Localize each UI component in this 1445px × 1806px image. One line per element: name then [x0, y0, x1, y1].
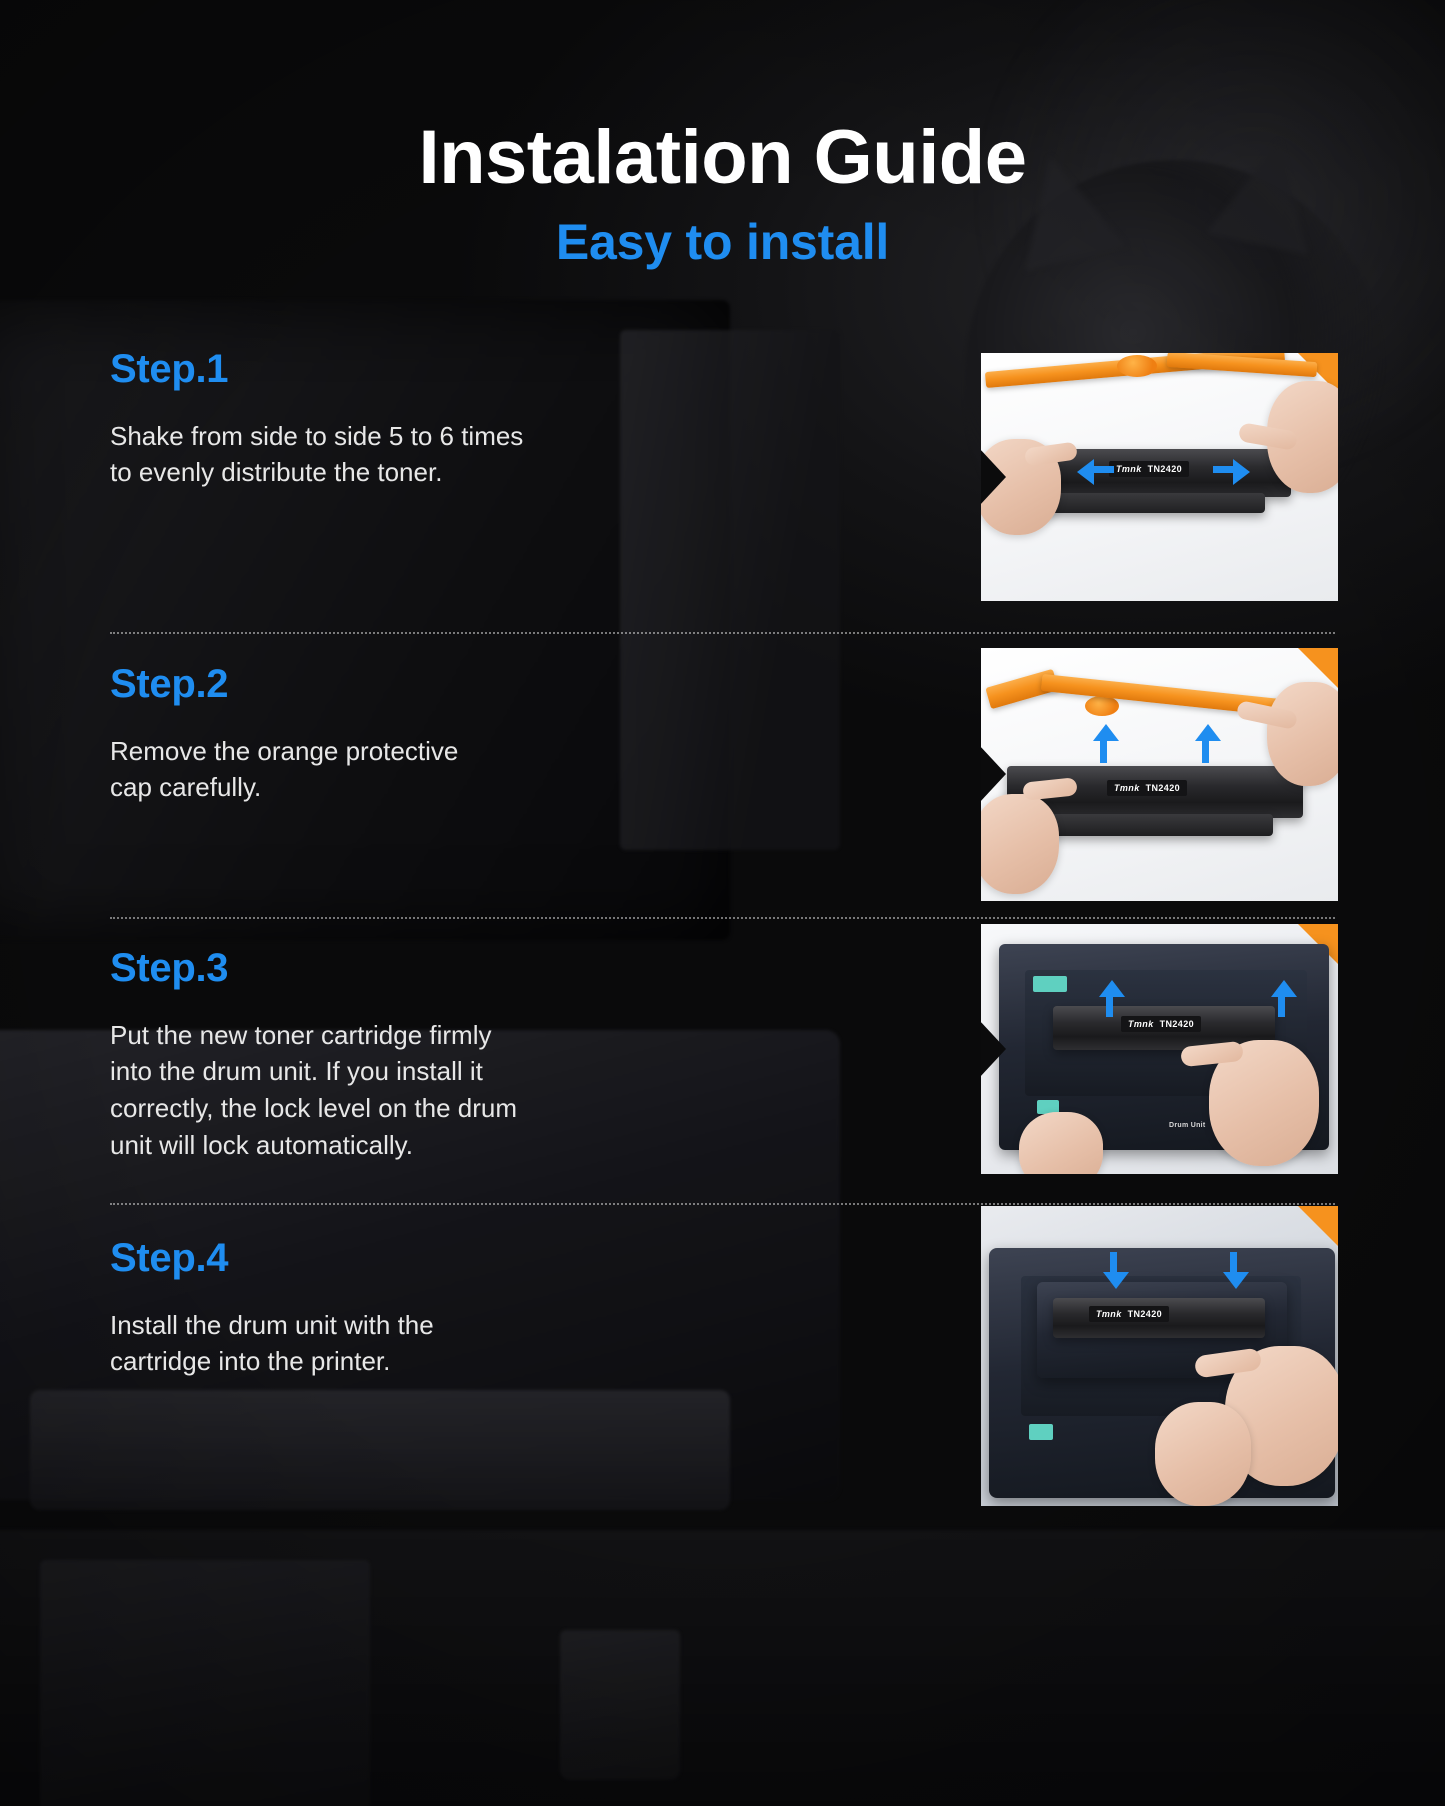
shake-arrow-right-stem — [1213, 466, 1233, 473]
steps-list: Step.1 Shake from side to side 5 to 6 ti… — [0, 333, 1445, 1526]
cartridge-brand-text: Tmnk — [1096, 1309, 1122, 1319]
step-2-text: Step.2 Remove the orange protective cap … — [110, 616, 730, 807]
insert-arrow-left-icon — [1099, 980, 1125, 997]
step-3-image: Tmnk TN2420 Drum Unit — [981, 924, 1338, 1174]
step-4-label: Step.4 — [110, 1236, 730, 1281]
hand-left — [1019, 1112, 1103, 1174]
shake-arrow-left-icon — [1077, 459, 1094, 485]
step-2-description: Remove the orange protective cap careful… — [110, 733, 710, 807]
step-1-description: Shake from side to side 5 to 6 times to … — [110, 418, 710, 492]
insert-arrow-right-icon — [1271, 980, 1297, 997]
insert-arrow-left-stem — [1110, 1252, 1117, 1272]
step-3-text: Step.3 Put the new toner cartridge firml… — [110, 906, 730, 1165]
step-1-image: Tmnk TN2420 — [981, 353, 1338, 601]
step-1-label: Step.1 — [110, 347, 730, 392]
step-item-3: Step.3 Put the new toner cartridge firml… — [0, 906, 1445, 1196]
orange-cap-knob-icon — [1117, 355, 1157, 377]
drum-unit-name-label: Drum Unit — [1169, 1122, 1206, 1129]
cartridge-label-badge: Tmnk TN2420 — [1107, 780, 1187, 796]
corner-accent-icon — [1298, 1206, 1338, 1246]
hand-left-bottom — [981, 794, 1059, 894]
step-4-text: Step.4 Install the drum unit with the ca… — [110, 1196, 730, 1381]
insert-arrow-right-icon — [1223, 1272, 1249, 1289]
cartridge-brand-text: Tmnk — [1116, 464, 1142, 474]
cartridge-model-text: TN2420 — [1160, 1019, 1194, 1029]
photo-pointer-notch — [981, 449, 1006, 505]
step-2-image: Tmnk TN2420 — [981, 648, 1338, 901]
toner-cartridge-lower — [1041, 493, 1265, 513]
step-3-label: Step.3 — [110, 946, 730, 991]
hand-right-top — [1267, 682, 1338, 786]
step-item-1: Step.1 Shake from side to side 5 to 6 ti… — [0, 333, 1445, 616]
insert-arrow-right-stem — [1278, 997, 1285, 1017]
step-1-text: Step.1 Shake from side to side 5 to 6 ti… — [110, 333, 730, 492]
lift-arrow-right-stem — [1202, 741, 1209, 763]
cartridge-model-text: TN2420 — [1146, 783, 1180, 793]
installation-guide-page: Instalation Guide Easy to install Step.1… — [0, 0, 1445, 1806]
shake-arrow-right-icon — [1233, 459, 1250, 485]
page-subtitle: Easy to install — [0, 213, 1445, 271]
toner-cartridge-lower — [1029, 814, 1273, 836]
cartridge-brand-text: Tmnk — [1128, 1019, 1154, 1029]
cartridge-brand-text: Tmnk — [1114, 783, 1140, 793]
cartridge-model-text: TN2420 — [1148, 464, 1182, 474]
lift-arrow-left-stem — [1100, 741, 1107, 763]
cartridge-model-text: TN2420 — [1128, 1309, 1162, 1319]
drum-unit-teal-marker — [1033, 976, 1067, 992]
guide-header: Instalation Guide Easy to install — [0, 0, 1445, 271]
insert-arrow-right-stem — [1230, 1252, 1237, 1272]
shake-arrow-left-stem — [1094, 466, 1114, 473]
step-4-description: Install the drum unit with the cartridge… — [110, 1307, 710, 1381]
hand-left — [1155, 1402, 1251, 1506]
cartridge-label-badge: Tmnk TN2420 — [1109, 461, 1189, 477]
insert-arrow-left-icon — [1103, 1272, 1129, 1289]
step-2-label: Step.2 — [110, 662, 730, 707]
step-item-2: Step.2 Remove the orange protective cap … — [0, 616, 1445, 906]
page-title: Instalation Guide — [0, 118, 1445, 199]
step-3-description: Put the new toner cartridge firmly into … — [110, 1017, 710, 1165]
photo-pointer-notch — [981, 746, 1006, 802]
photo-pointer-notch — [981, 1021, 1006, 1077]
printer-teal-marker — [1029, 1424, 1053, 1440]
cartridge-label-badge: Tmnk TN2420 — [1121, 1016, 1201, 1032]
step-item-4: Step.4 Install the drum unit with the ca… — [0, 1196, 1445, 1526]
insert-arrow-left-stem — [1106, 997, 1113, 1017]
step-4-image: Tmnk TN2420 — [981, 1206, 1338, 1506]
lift-arrow-left-icon — [1093, 724, 1119, 741]
cartridge-label-badge: Tmnk TN2420 — [1089, 1306, 1169, 1322]
lift-arrow-right-icon — [1195, 724, 1221, 741]
